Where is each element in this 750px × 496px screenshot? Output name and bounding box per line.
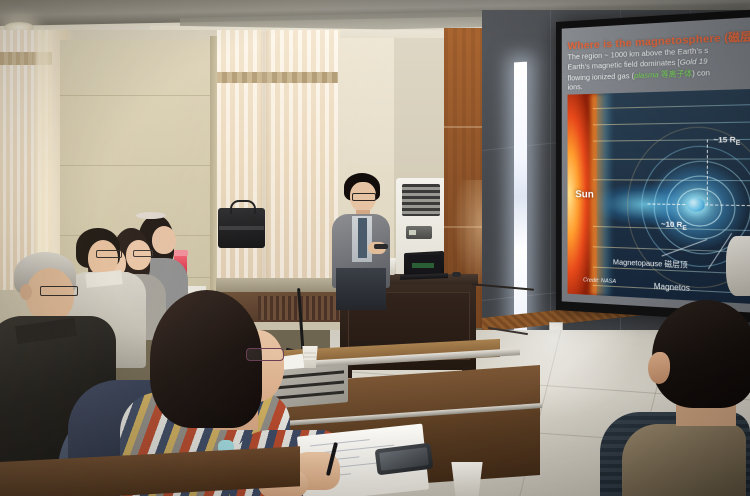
slide-body-line-4: ions. (568, 82, 583, 92)
foreground-man-ear (648, 352, 670, 384)
label-tail-subscript: E (736, 140, 741, 148)
tail-distance-marker (707, 139, 709, 205)
foreground-woman-hair (150, 290, 262, 428)
glasses (96, 250, 122, 258)
laptop-display-glow (412, 263, 434, 268)
label-standoff-distance: ~10 RE (661, 219, 687, 232)
ledge-vent-slats (258, 296, 348, 320)
slide-line3-prefix: flowing ionized gas ( (568, 71, 635, 83)
slide-keyword-plasma: plasma (634, 70, 659, 80)
label-magnetotail: Magnetos (654, 282, 690, 293)
slide-line2-citation: Gold 19 (680, 56, 708, 67)
paper-cup-texture (304, 352, 316, 362)
solar-wind-line (593, 121, 750, 125)
ear (20, 284, 32, 300)
projected-slide: Where is the magnetosphere (磁层 The regio… (562, 17, 750, 312)
thermos-bottle-cap (173, 250, 188, 256)
slide-keyword-plasma-cn: 等离子体 (659, 69, 692, 80)
projection-screen: Where is the magnetosphere (磁层 The regio… (556, 9, 750, 323)
earth-graphic (687, 198, 704, 212)
label-tail-distance: ~15 RE (713, 135, 740, 148)
label-tail-value: ~15 R (713, 135, 735, 145)
paper-cup-foreground (450, 462, 484, 496)
vertical-light-strip (514, 62, 527, 333)
mouse[interactable] (452, 272, 461, 277)
solar-wind-line (593, 104, 750, 109)
handwriting-line (310, 439, 370, 447)
presenter-trousers (336, 268, 386, 310)
presenter-clicker (374, 244, 388, 249)
head (152, 226, 176, 254)
slide-line3-suffix: ) con (692, 68, 710, 78)
panel-seam (60, 165, 212, 166)
lecture-hall-photo: Where is the magnetosphere (磁层 The regio… (0, 0, 750, 496)
air-conditioner-display (409, 230, 416, 235)
curtain-trim (217, 72, 340, 83)
presenter-tie (358, 218, 367, 258)
air-conditioner-grille (402, 184, 440, 216)
window-curtain-right (217, 30, 340, 288)
label-sun: Sun (575, 189, 594, 200)
panel-edge (210, 36, 217, 294)
label-standoff-subscript: E (682, 225, 686, 233)
laptop-bag-handle (230, 200, 256, 214)
audience-member-far-right (726, 236, 750, 296)
glasses (40, 286, 78, 296)
foreground-woman-glasses (246, 348, 284, 361)
magnetosphere-diagram: Sun ~15 RE ~10 RE Magnetopause 磁层顶 Magne… (568, 89, 750, 304)
panel-seam (60, 95, 212, 96)
label-standoff-value: ~10 R (661, 219, 682, 229)
headband (136, 212, 166, 219)
laptop-bag-strap (219, 226, 264, 230)
foreground-man-sweater-vest (622, 424, 746, 496)
curtain-fold (262, 30, 271, 288)
presenter-glasses (352, 193, 376, 201)
glasses (133, 250, 153, 257)
